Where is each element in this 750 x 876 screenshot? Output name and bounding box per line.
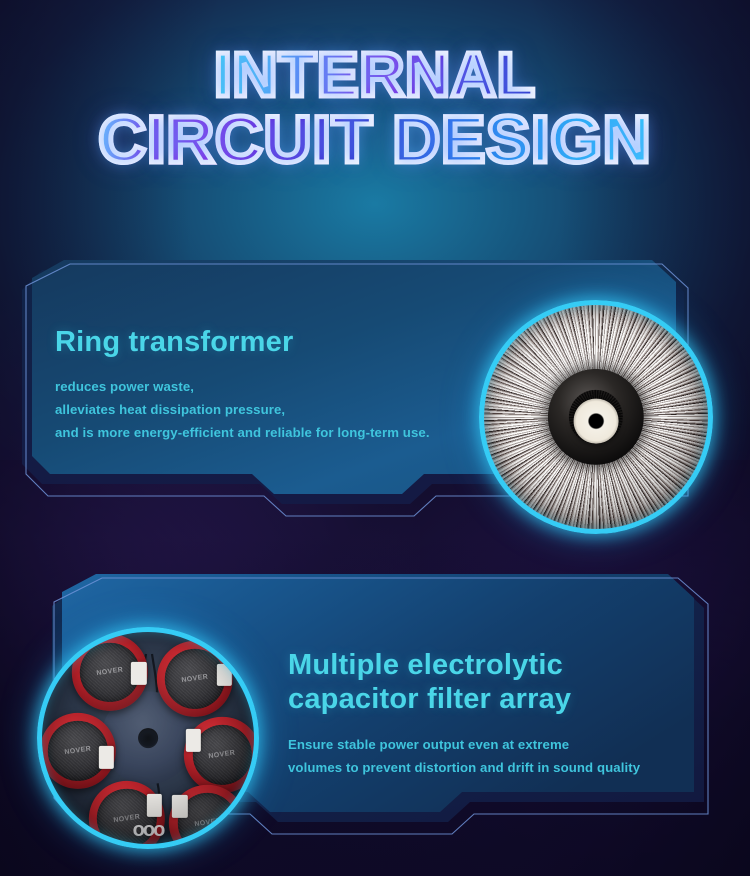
panel-2-text: Multiple electrolytic capacitor filter a… <box>288 648 708 780</box>
panel-2-body-line-1: Ensure stable power output even at extre… <box>288 734 708 757</box>
panel-2-body-line-2: volumes to prevent distortion and drift … <box>288 757 708 780</box>
title-line-1: INTERNAL <box>0 46 750 106</box>
panel-1-body-line-3: and is more energy-efficient and reliabl… <box>55 422 525 445</box>
title-line-2: CIRCUIT DESIGN <box>0 108 750 171</box>
panel-1-body-line-1: reduces power waste, <box>55 376 525 399</box>
title-line-2-text: CIRCUIT DESIGN <box>98 102 651 176</box>
panel-2-heading: Multiple electrolytic capacitor filter a… <box>288 648 708 716</box>
panel-2-heading-line-1: Multiple electrolytic <box>288 648 708 682</box>
panel-2-heading-line-2: capacitor filter array <box>288 682 708 716</box>
panel-1-heading: Ring transformer <box>55 325 525 359</box>
capacitor-cyan-ring <box>37 627 259 849</box>
panel-1-text: Ring transformer reduces power waste, al… <box>55 325 525 444</box>
page-title: INTERNAL CIRCUIT DESIGN <box>0 46 750 171</box>
title-line-1-text: INTERNAL <box>214 41 535 110</box>
panel-1-body: reduces power waste, alleviates heat dis… <box>55 376 525 444</box>
capacitor-array-image: NOVER NOVER NOVER NOVER NOVER NOVER ooo <box>37 627 259 849</box>
transformer-cyan-ring <box>479 300 713 534</box>
panel-2-body: Ensure stable power output even at extre… <box>288 734 708 779</box>
toroidal-transformer-image <box>479 300 713 534</box>
panel-1-body-line-2: alleviates heat dissipation pressure, <box>55 399 525 422</box>
